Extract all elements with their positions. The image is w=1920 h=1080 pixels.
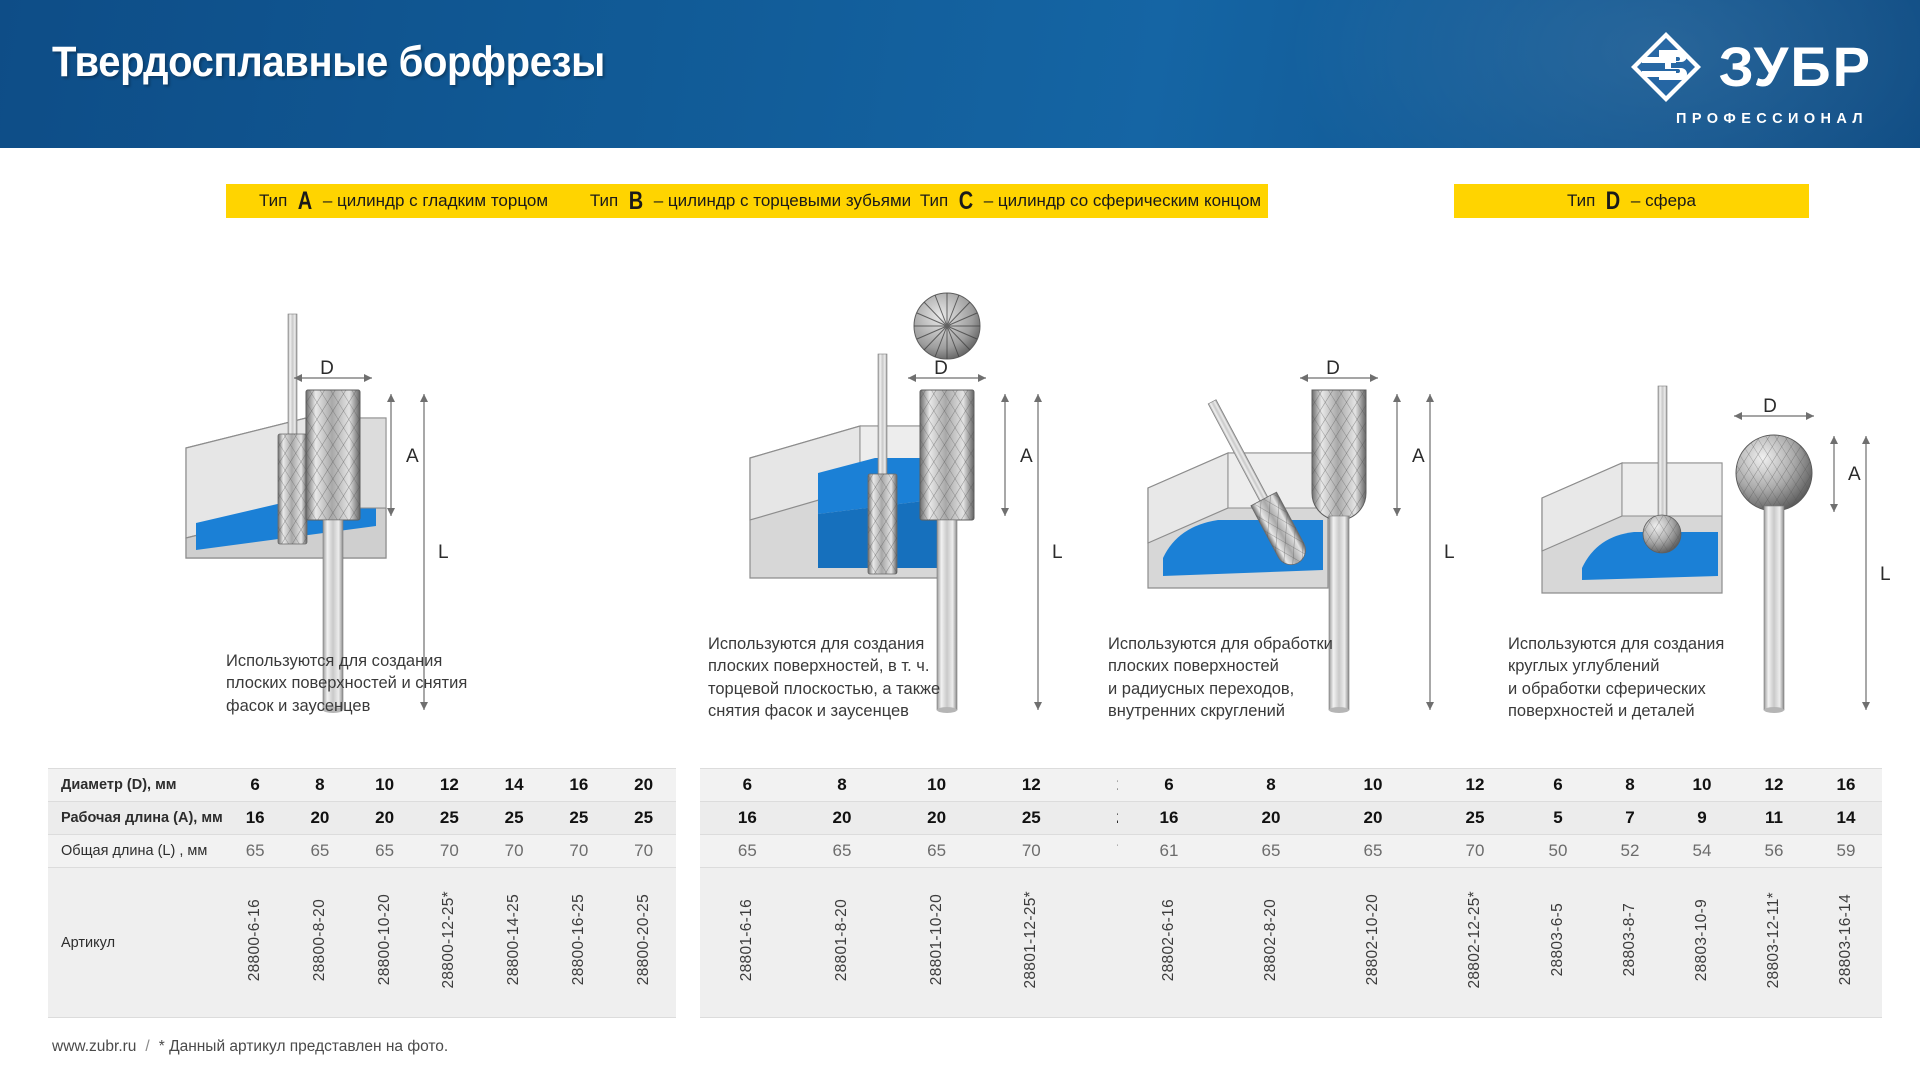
table-cell-article: 28801-10-20 [889,868,984,1018]
table-cell: 11 [1738,802,1810,835]
table-cell-article: 28800-14-25 [482,868,547,1018]
table-cell: 16 [700,802,795,835]
table-cell-article: 28803-8-7 [1594,868,1666,1018]
footnote: * Данный артикул представлен на фото. [159,1038,448,1055]
article-number: 28800-6-16 [246,899,264,981]
table-row-articles: 28803-6-528803-8-728803-10-928803-12-11*… [1522,868,1882,1018]
table-cell: 14 [1810,802,1882,835]
spec-table-d: 681012165791114505254565928803-6-528803-… [1522,768,1882,1018]
dim-label-a: A [406,446,419,467]
table-cell: 59 [1810,835,1882,868]
dim-label-l: L [1444,542,1455,563]
dim-label-l: L [1880,564,1891,585]
article-number: 28803-10-9 [1693,899,1711,981]
type-prefix: Тип [259,191,287,211]
table-cell: 61 [1118,835,1220,868]
table-cell: 65 [352,835,417,868]
table-cell: 9 [1666,802,1738,835]
table-cell-article: 28802-6-16 [1118,868,1220,1018]
table-cell: 50 [1522,835,1594,868]
table-cell: 14 [482,769,547,802]
table-row: 5791114 [1522,802,1882,835]
table-cell: 25 [417,802,482,835]
dim-label-d: D [320,358,334,379]
dim-label-d: D [1326,358,1340,379]
dim-label-a: A [1848,464,1861,485]
table-cell: 16 [546,769,611,802]
table-cell: 20 [1220,802,1322,835]
article-number: 28802-12-25* [1466,891,1484,989]
type-letter: C [956,189,977,214]
table-cell: 6 [700,769,795,802]
table-cell: 6 [223,769,288,802]
table-cell-article: 28802-8-20 [1220,868,1322,1018]
article-number: 28803-8-7 [1621,903,1639,976]
type-letter: D [1603,189,1624,214]
zubr-diamond-icon [1629,30,1703,104]
table-cell: 70 [546,835,611,868]
table-cell-article: 28801-6-16 [700,868,795,1018]
table-cell: 20 [352,802,417,835]
table-cell: 7 [1594,802,1666,835]
table-cell: 20 [795,802,890,835]
table-cell-article: 28803-6-5 [1522,868,1594,1018]
table-cell: 65 [223,835,288,868]
table-cell-article: 28800-6-16 [223,868,288,1018]
website-link[interactable]: www.zubr.ru [52,1038,136,1055]
table-cell: 10 [1666,769,1738,802]
footer-separator: / [145,1038,149,1055]
workpiece-c [1148,453,1328,588]
usage-text-b: Используются для создания плоских поверх… [708,633,1008,723]
article-number: 28802-6-16 [1160,899,1178,981]
row-label: Рабочая длина (A), мм [48,802,223,835]
spec-table-a: Диаметр (D), мм681012141620Рабочая длина… [48,768,676,1018]
table-cell: 25 [546,802,611,835]
table-cell: 6 [1118,769,1220,802]
type-header-c: Тип C – цилиндр со сферическим концом [913,184,1268,218]
table-cell: 16 [1810,769,1882,802]
article-number: 28801-8-20 [833,899,851,981]
article-number: 28803-12-11* [1765,892,1783,988]
table-cell-article: 28800-8-20 [288,868,353,1018]
table-cell-article: 28800-12-25* [417,868,482,1018]
table-cell-article: 28800-10-20 [352,868,417,1018]
page-title: Твердосплавные борфрезы [52,38,605,87]
table-cell: 65 [889,835,984,868]
footer: www.zubr.ru/* Данный артикул представлен… [52,1038,448,1056]
type-description: – цилиндр с гладким торцом [323,191,548,211]
table-cell: 12 [417,769,482,802]
table-cell: 8 [795,769,890,802]
table-cell: 12 [984,769,1079,802]
type-description: – цилиндр с торцевыми зубьями [654,191,911,211]
type-prefix: Тип [920,191,948,211]
article-number: 28803-16-14 [1837,894,1855,985]
type-header-b: Тип B – цилиндр с торцевыми зубьями [573,184,928,218]
table-row: 5052545659 [1522,835,1882,868]
article-number: 28801-12-25* [1022,891,1040,989]
brand-name: ЗУБР [1719,40,1872,93]
type-description: – цилиндр со сферическим концом [984,191,1261,211]
type-prefix: Тип [1567,191,1595,211]
table-cell-article: 28801-8-20 [795,868,890,1018]
table-cell-article: 28801-12-25* [984,868,1079,1018]
table-cell: 70 [1424,835,1526,868]
type-letter: A [295,189,316,214]
article-number: 28800-12-25* [440,891,458,989]
page-header: Твердосплавные борфрезы ЗУБР ПРОФЕССИОНА… [0,0,1920,148]
article-number: 28800-10-20 [376,894,394,985]
table-cell-article: 28803-12-11* [1738,868,1810,1018]
row-label-article: Артикул [48,868,223,1018]
table-cell: 54 [1666,835,1738,868]
table-cell: 10 [352,769,417,802]
table-cell: 70 [611,835,676,868]
usage-text-a: Используются для создания плоских поверх… [226,650,526,717]
article-number: 28803-6-5 [1549,903,1567,976]
table-cell-article: 28800-16-25 [546,868,611,1018]
table-cell: 70 [482,835,547,868]
table-cell: 5 [1522,802,1594,835]
type-letter: B [625,189,646,214]
usage-text-c: Используются для обработки плоских повер… [1108,633,1408,723]
table-cell: 12 [1738,769,1810,802]
table-cell: 70 [984,835,1079,868]
table-cell: 16 [223,802,288,835]
article-number: 28802-8-20 [1262,899,1280,981]
table-cell: 25 [482,802,547,835]
table-cell: 65 [700,835,795,868]
table-cell: 25 [984,802,1079,835]
table-cell: 65 [1220,835,1322,868]
table-cell: 56 [1738,835,1810,868]
table-cell: 20 [889,802,984,835]
table-cell: 25 [1424,802,1526,835]
dim-label-l: L [438,542,449,563]
table-cell: 70 [417,835,482,868]
article-number: 28800-16-25 [570,894,588,985]
table-cell: 65 [1322,835,1424,868]
type-description: – сфера [1631,191,1696,211]
table-cell: 8 [288,769,353,802]
dim-label-d: D [1763,396,1777,417]
type-header-a: Тип A – цилиндр с гладким торцом [226,184,581,218]
article-number: 28800-20-25 [635,894,653,985]
table-cell: 25 [611,802,676,835]
brand-tagline: ПРОФЕССИОНАЛ [1676,111,1868,127]
table-cell-article: 28803-10-9 [1666,868,1738,1018]
table-cell: 52 [1594,835,1666,868]
table-row-articles: Артикул28800-6-1628800-8-2028800-10-2028… [48,868,676,1018]
datasheet-page: Твердосплавные борфрезы ЗУБР ПРОФЕССИОНА… [0,0,1920,1080]
article-number: 28802-10-20 [1364,894,1382,985]
row-label: Общая длина (L) , мм [48,835,223,868]
table-cell: 20 [611,769,676,802]
table-cell: 65 [288,835,353,868]
table-cell: 6 [1522,769,1594,802]
table-cell-article: 28802-12-25* [1424,868,1526,1018]
type-header-d: Тип D – сфера [1454,184,1809,218]
table-cell: 10 [1322,769,1424,802]
dim-label-a: A [1020,446,1033,467]
row-label: Диаметр (D), мм [48,769,223,802]
table-cell-article: 28802-10-20 [1322,868,1424,1018]
table-row: 68101216 [1522,769,1882,802]
brand-logo: ЗУБР ПРОФЕССИОНАЛ [1629,30,1872,127]
workpiece-d [1542,463,1722,593]
dim-label-l: L [1052,542,1063,563]
usage-text-d: Используются для создания круглых углубл… [1508,633,1808,723]
table-cell: 10 [889,769,984,802]
table-cell-article: 28803-16-14 [1810,868,1882,1018]
table-cell: 16 [1118,802,1220,835]
article-number: 28801-10-20 [928,894,946,985]
dim-label-d: D [934,358,948,379]
table-cell: 12 [1424,769,1526,802]
table-cell: 65 [795,835,890,868]
table-cell: 8 [1594,769,1666,802]
article-number: 28800-8-20 [311,899,329,981]
table-row: Диаметр (D), мм681012141620 [48,769,676,802]
table-cell-article: 28800-20-25 [611,868,676,1018]
article-number: 28801-6-16 [738,899,756,981]
dim-label-a: A [1412,446,1425,467]
table-cell: 20 [1322,802,1424,835]
table-cell: 20 [288,802,353,835]
type-prefix: Тип [590,191,618,211]
table-row: Рабочая длина (A), мм16202025252525 [48,802,676,835]
table-row: Общая длина (L) , мм65656570707070 [48,835,676,868]
article-number: 28800-14-25 [505,894,523,985]
end-face-view-b [914,293,980,359]
table-cell: 8 [1220,769,1322,802]
